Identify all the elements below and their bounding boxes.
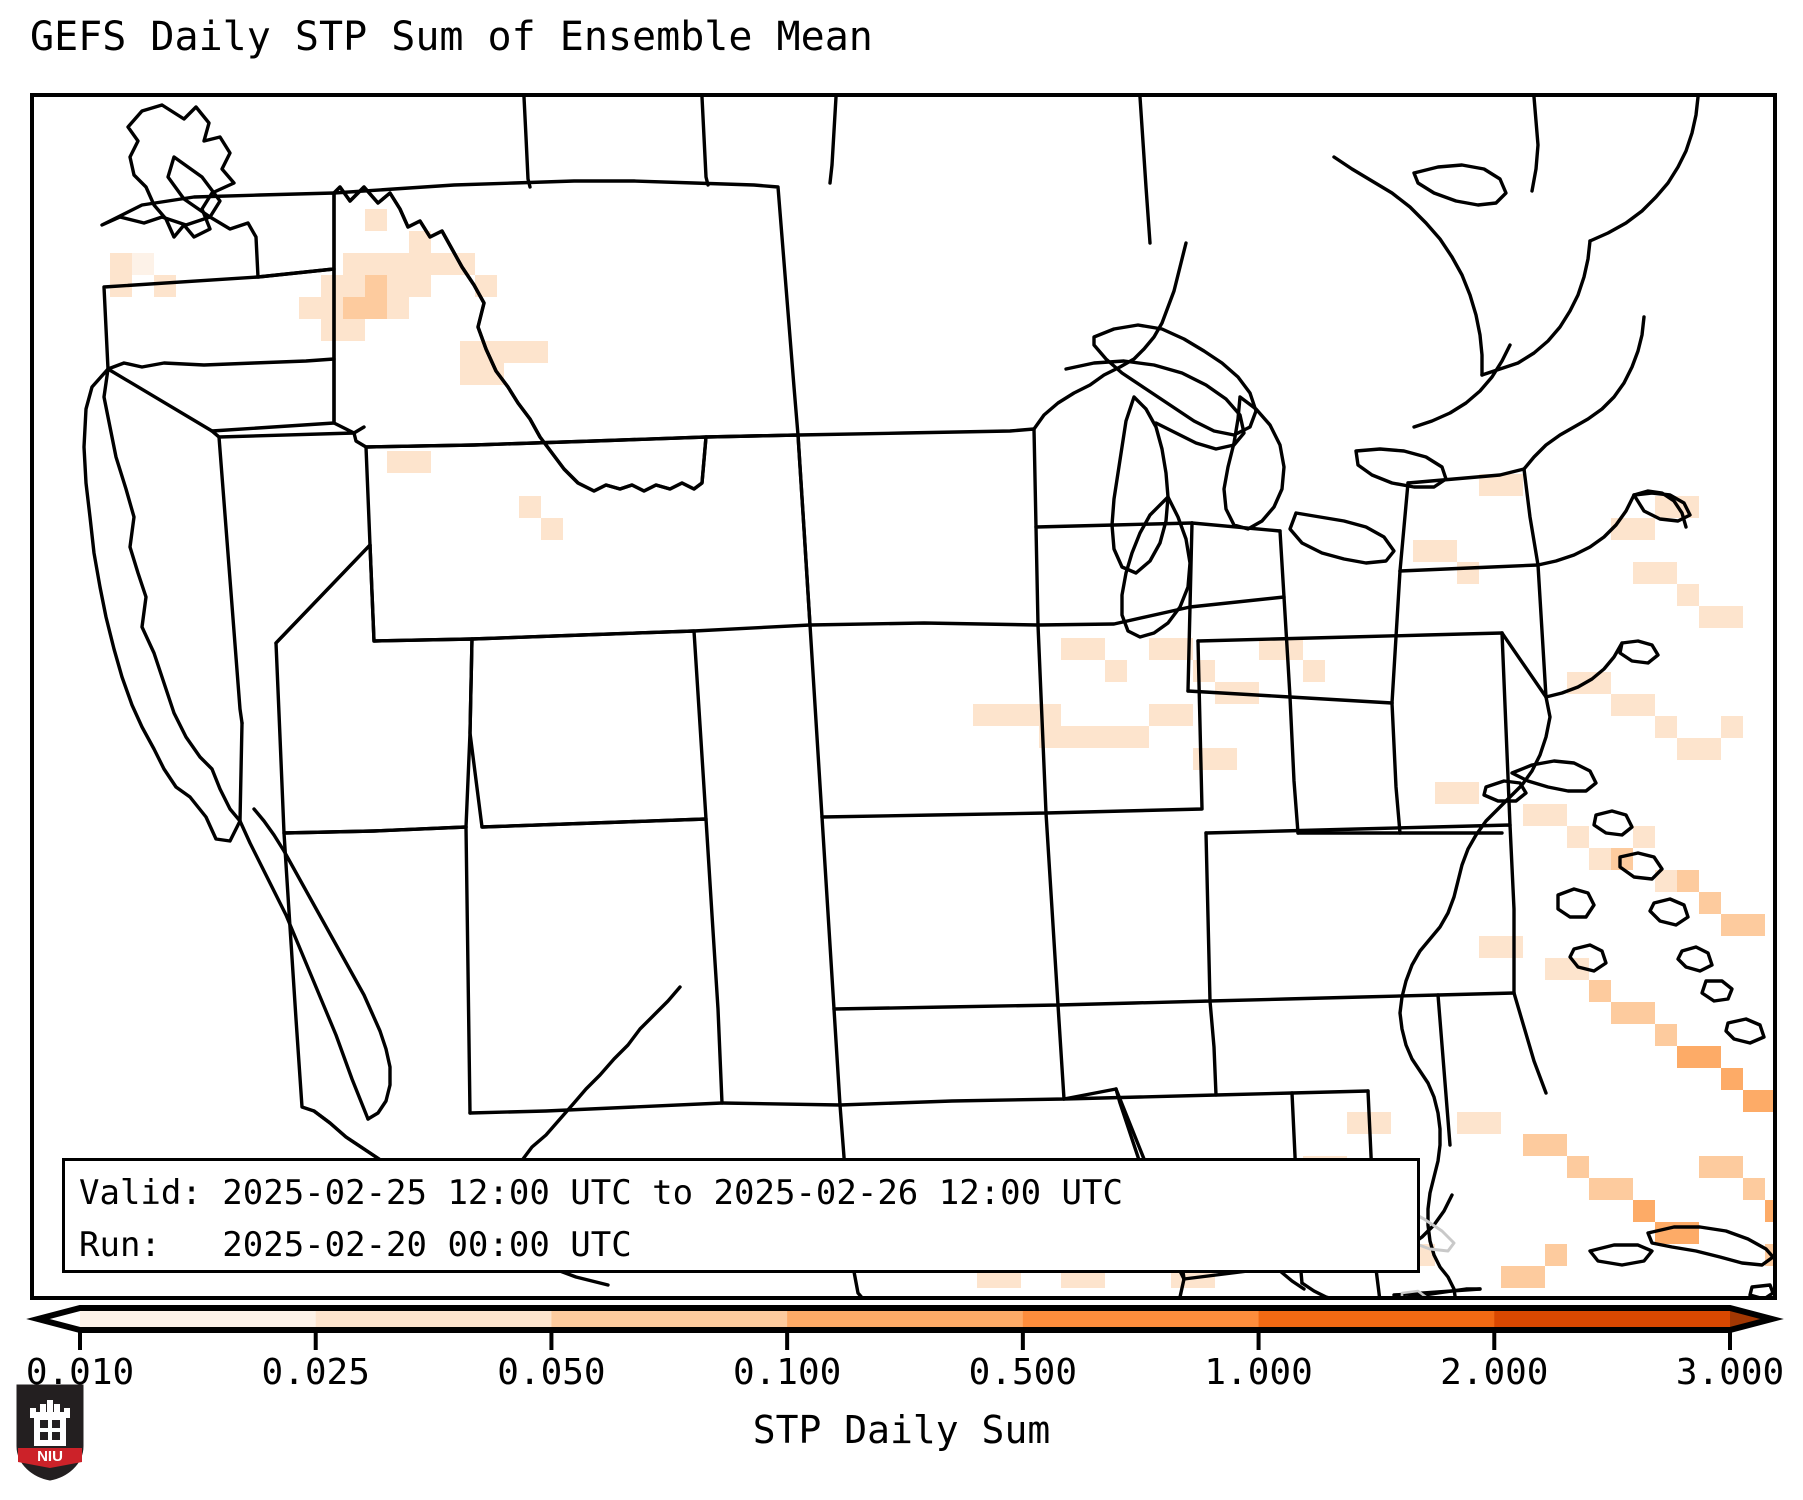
- colorbar[interactable]: [0, 1292, 1803, 1362]
- colorbar-axis-label: STP Daily Sum: [0, 1408, 1803, 1452]
- colorbar-band: [551, 1308, 787, 1330]
- colorbar-band: [1259, 1308, 1495, 1330]
- niu-banner-text: NIU: [37, 1448, 63, 1465]
- colorbar-band: [1494, 1308, 1730, 1330]
- colorbar-band: [80, 1308, 316, 1330]
- niu-logo-svg: NIU: [14, 1382, 86, 1482]
- geography-layer: [34, 97, 1773, 1296]
- colorbar-bands: [38, 1308, 1772, 1330]
- map-plot-area: [30, 93, 1777, 1300]
- colorbar-band: [1023, 1308, 1259, 1330]
- colorbar-band: [316, 1308, 552, 1330]
- niu-logo: NIU: [14, 1382, 86, 1482]
- colorbar-band: [787, 1308, 1023, 1330]
- colorbar-svg: [0, 1292, 1803, 1362]
- info-box: Valid: 2025-02-25 12:00 UTC to 2025-02-2…: [62, 1158, 1420, 1273]
- state-borders: [84, 97, 1773, 1296]
- run-time-line: Run: 2025-02-20 00:00 UTC: [79, 1219, 1403, 1271]
- page-title: GEFS Daily STP Sum of Ensemble Mean: [30, 14, 873, 60]
- valid-time-line: Valid: 2025-02-25 12:00 UTC to 2025-02-2…: [79, 1167, 1403, 1219]
